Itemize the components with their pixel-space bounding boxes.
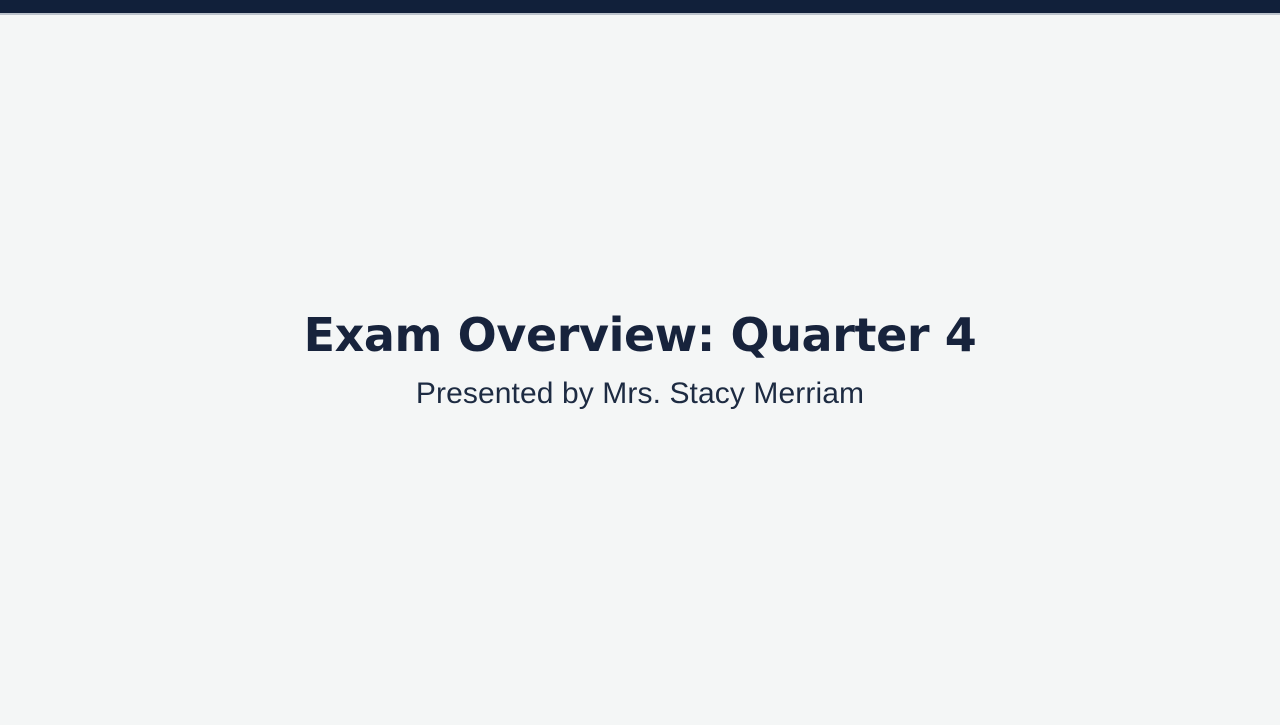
- presentation-viewport: Exam Overview: Quarter 4 Presented by Mr…: [0, 0, 1280, 725]
- slide-canvas[interactable]: Exam Overview: Quarter 4 Presented by Mr…: [0, 15, 1280, 725]
- title-slide: Exam Overview: Quarter 4 Presented by Mr…: [0, 15, 1280, 725]
- window-chrome-separator: [0, 13, 1280, 15]
- window-chrome-bar: [0, 0, 1280, 13]
- slide-subtitle: Presented by Mrs. Stacy Merriam: [416, 376, 864, 412]
- slide-title: Exam Overview: Quarter 4: [304, 310, 977, 362]
